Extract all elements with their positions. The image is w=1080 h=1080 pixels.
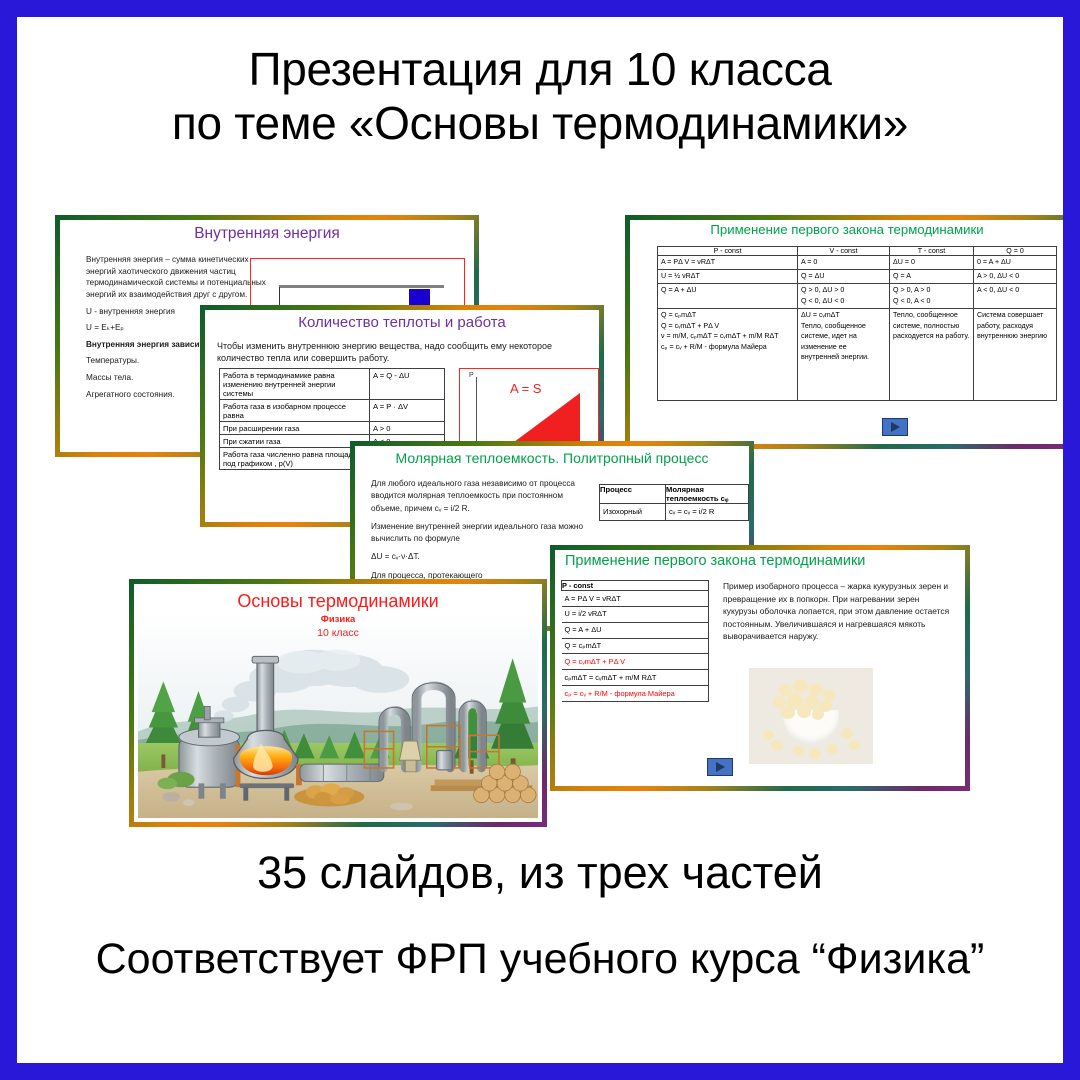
molar-heat-table: Процесс Молярная теплоемкость cᵩ Изохорн… [599, 484, 749, 521]
slide-content: Применение первого закона термодинамики … [630, 220, 1063, 444]
cell-label: При сжатии газа [220, 435, 370, 448]
col-header: V - const [798, 247, 890, 256]
cell: A = 0 [798, 256, 890, 270]
slide-title: Внутренняя энергия [60, 220, 474, 242]
col-header: P - const [562, 581, 709, 591]
cell-label: При расширении газа [220, 422, 370, 435]
cell-formula: A > 0 [370, 422, 445, 435]
popcorn-formula-table: P - const A = PΔ V = νRΔT U = i/2 νRΔT Q… [561, 580, 709, 702]
slide-content: Основы термодинамики Физика 10 класс [134, 584, 542, 822]
page-title-line1: Презентация для 10 класса [17, 42, 1063, 96]
cell: Тепло, сообщенное системе, полностью рас… [890, 308, 974, 400]
factory-svg [138, 614, 538, 818]
slide-thumbnail-cover[interactable]: Основы термодинамики Физика 10 класс [129, 579, 547, 827]
table-row: Работа в термодинамике равна изменению в… [220, 369, 445, 400]
kernel [781, 706, 795, 719]
kernel [849, 740, 860, 750]
table-row: cₚ = cᵥ + R/M - формула Майера [562, 686, 709, 702]
table-row: Q = A + ΔU Q > 0, ΔU > 0 Q < 0, ΔU < 0 Q… [658, 284, 1057, 309]
cell: 0 = A + ΔU [974, 256, 1057, 270]
slide-thumbnail-first-law-popcorn[interactable]: Применение первого закона термодинамики … [550, 545, 970, 791]
condenser [437, 751, 453, 770]
page-title: Презентация для 10 класса по теме «Основ… [17, 42, 1063, 151]
slide-title: Применение первого закона термодинамики [555, 550, 965, 570]
cell: cᵥ = cᵥ = i/2 R [666, 504, 749, 521]
table-row: Q = cᵥmΔT + PΔ V [562, 654, 709, 670]
cell-formula: Q = A + ΔU [562, 622, 709, 638]
cell-formula: cₚ = cᵥ + R/M - формула Майера [562, 686, 709, 702]
cell-label: Работа в термодинамике равна изменению в… [220, 369, 370, 400]
table-row: При расширении газа A > 0 [220, 422, 445, 435]
table-row: U = ½ νRΔT Q = ΔU Q = A A > 0, ΔU < 0 [658, 270, 1057, 284]
cover-grade: 10 класс [134, 627, 542, 639]
col-header: P - const [658, 247, 798, 256]
slide-paragraph: Пример изобарного процесса – жарка кукур… [723, 580, 953, 643]
play-icon[interactable] [882, 418, 908, 436]
paragraph: Изменение внутренней энергии идеального … [371, 521, 589, 546]
table-row: A = PΔ V = νRΔT [562, 591, 709, 607]
cell-formula: A = P · ΔV [370, 400, 445, 422]
cell: Q = ΔU [798, 270, 890, 284]
kernel [797, 705, 811, 718]
table-row: cₚmΔT = cᵥmΔT + m/M RΔT [562, 670, 709, 686]
col-header: T - const [890, 247, 974, 256]
paragraph: Для любого идеального газа независимо от… [371, 478, 589, 515]
cell: ΔU = cᵥmΔT Тепло, сообщенное системе, ид… [798, 308, 890, 400]
kernel [809, 748, 821, 759]
kernel [841, 728, 853, 739]
pipe-horizontal [300, 764, 384, 781]
cell-formula: A = Q - ΔU [370, 369, 445, 400]
table-row: Работа газа в изобарном процессе равна A… [220, 400, 445, 422]
kernel [827, 744, 838, 754]
table-row: Изохорный cᵥ = cᵥ = i/2 R [600, 504, 749, 521]
slide-title: Применение первого закона термодинамики [630, 220, 1063, 238]
col-header: Процесс [600, 485, 666, 504]
table-row: U = i/2 νRΔT [562, 606, 709, 622]
slide-count-text: 35 слайдов, из трех частей [17, 847, 1063, 899]
poster-canvas: Презентация для 10 класса по теме «Основ… [17, 17, 1063, 1063]
slide-content: Применение первого закона термодинамики … [555, 550, 965, 786]
page-title-line2: по теме «Основы термодинамики» [17, 96, 1063, 150]
cell: Система совершает работу, расходуя внутр… [974, 308, 1057, 400]
kernel [793, 679, 808, 693]
cell: ΔU = 0 [890, 256, 974, 270]
table-row: A = PΔ V = νRΔT A = 0 ΔU = 0 0 = A + ΔU [658, 256, 1057, 270]
kernel [812, 708, 824, 720]
curriculum-note: Соответствует ФРП учебного курса “Физика… [17, 932, 1063, 988]
first-law-table: P - const V - const T - const Q = 0 A = … [657, 246, 1057, 401]
table-header-row: P - const [562, 581, 709, 591]
axis-label-p: P [469, 372, 474, 379]
cell-formula: A = PΔ V = νRΔT [562, 591, 709, 607]
cell: Q > 0, A > 0 Q < 0, A < 0 [890, 284, 974, 309]
play-icon[interactable] [707, 758, 733, 776]
kernel [793, 746, 804, 756]
table-row: Q = cₚmΔT [562, 638, 709, 654]
cell: Q = cₚmΔT Q = cᵥmΔT + PΔ V ν = m/M, cₚmΔ… [658, 308, 798, 400]
kernel [771, 740, 783, 751]
cell-formula: cₚmΔT = cᵥmΔT + m/M RΔT [562, 670, 709, 686]
kernel [763, 730, 774, 740]
cell: A < 0, ΔU < 0 [974, 284, 1057, 309]
table-header-row: P - const V - const T - const Q = 0 [658, 247, 1057, 256]
table-row: Q = A + ΔU [562, 622, 709, 638]
slide-lead-text: Чтобы изменить внутреннюю энергию вещест… [217, 340, 577, 364]
cover-title: Основы термодинамики [134, 592, 542, 612]
popcorn-photo [749, 668, 873, 764]
cell: Изохорный [600, 504, 666, 521]
table-header-row: Процесс Молярная теплоемкость cᵩ [600, 485, 749, 504]
cell-formula: Q = cₚmΔT [562, 638, 709, 654]
cell: Q = A + ΔU [658, 284, 798, 309]
cell: A = PΔ V = νRΔT [658, 256, 798, 270]
cell: Q > 0, ΔU > 0 Q < 0, ΔU < 0 [798, 284, 890, 309]
graph-annotation: A = S [510, 381, 541, 396]
table-row: Q = cₚmΔT Q = cᵥmΔT + PΔ V ν = m/M, cₚmΔ… [658, 308, 1057, 400]
cell-formula: U = i/2 νRΔT [562, 606, 709, 622]
slide-title: Молярная теплоемкость. Политропный проце… [355, 446, 749, 466]
cell-label: Работа газа численно равна площади под г… [220, 448, 370, 470]
cell: A > 0, ΔU < 0 [974, 270, 1057, 284]
slide-title: Количество теплоты и работа [205, 310, 599, 332]
cell-formula: Q = cᵥmΔT + PΔ V [562, 654, 709, 670]
cell: U = ½ νRΔT [658, 270, 798, 284]
col-header: Молярная теплоемкость cᵩ [666, 485, 749, 504]
thermal-power-plant-illustration [138, 614, 538, 818]
cell: Q = A [890, 270, 974, 284]
col-header: Q = 0 [974, 247, 1057, 256]
slide-thumbnail-first-law-table[interactable]: Применение первого закона термодинамики … [625, 215, 1063, 449]
cell-label: Работа газа в изобарном процессе равна [220, 400, 370, 422]
cover-subject: Физика [134, 614, 542, 625]
